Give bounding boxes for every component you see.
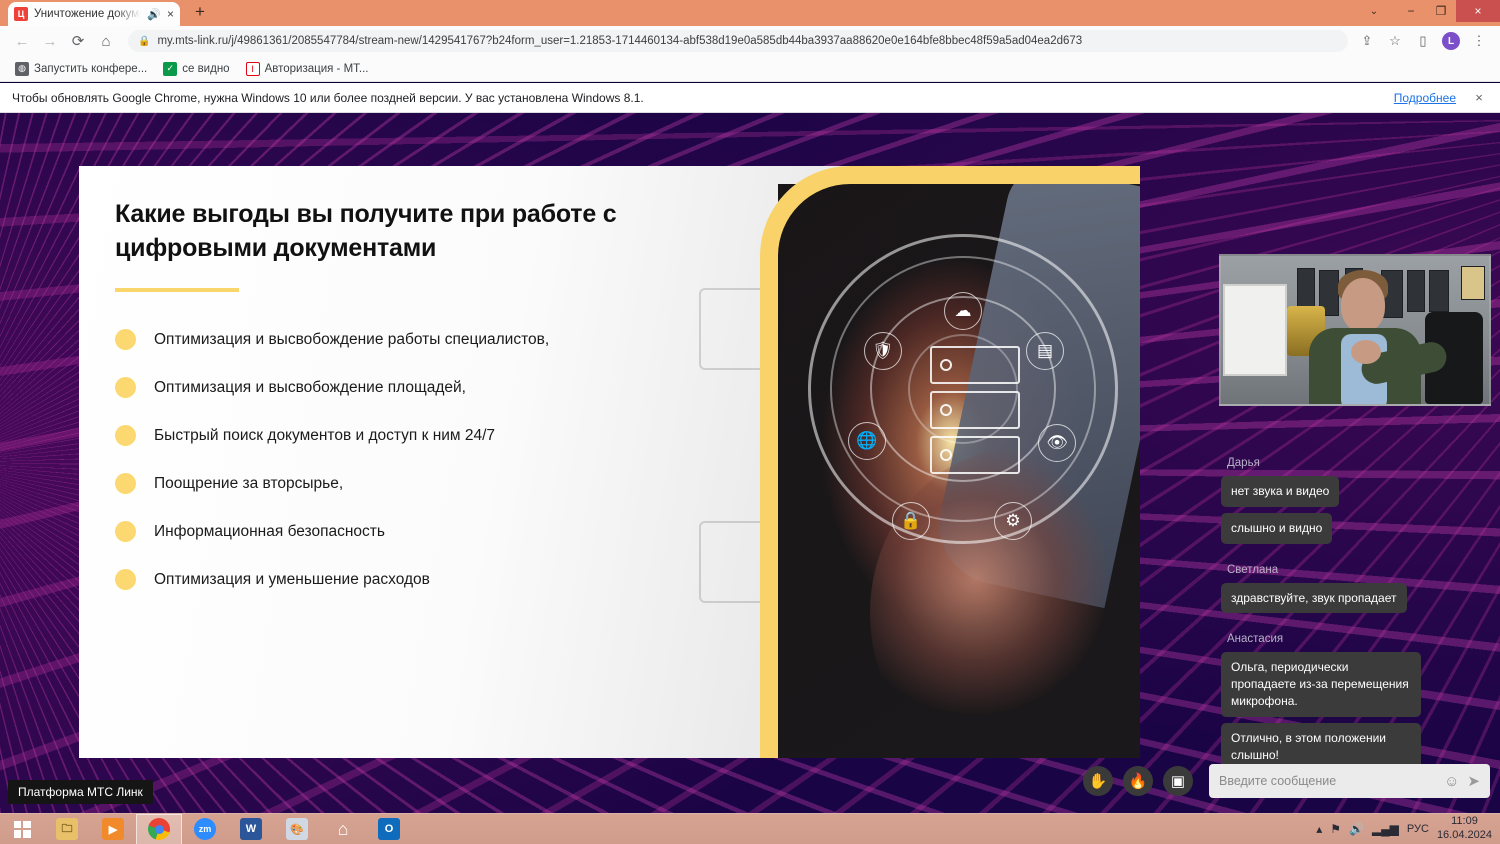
taskbar-item-media-player[interactable]: ▶	[90, 814, 136, 844]
bullet-dot-icon	[115, 425, 136, 446]
bookmark-item[interactable]: ✓ се видно	[156, 60, 236, 78]
chat-message: Ольга, периодически пропадаете из-за пер…	[1221, 652, 1421, 716]
lock-icon: 🔒	[138, 36, 150, 47]
bookmark-label: Авторизация - МТ...	[265, 63, 369, 75]
bookmarks-bar: ◍ Запустить конфере... ✓ се видно I Авто…	[0, 56, 1500, 82]
layout-button[interactable]: ▣	[1163, 766, 1193, 796]
chat-input-box[interactable]: Введите сообщение ☺ ➤	[1209, 764, 1490, 798]
show-hidden-icons-icon[interactable]: ▴	[1316, 822, 1322, 836]
window-close-button[interactable]: ×	[1456, 0, 1500, 22]
side-panel-icon[interactable]: ▯	[1410, 28, 1436, 54]
presenter-video-tile[interactable]	[1219, 254, 1491, 406]
windows-taskbar: 🗀 ▶ zm W 🎨 ⌂ O ▴ ⚑ 🔊 ▂▄▆ РУ	[0, 813, 1500, 844]
address-bar[interactable]: 🔒 my.mts-link.ru/j/49861361/2085547784/s…	[128, 30, 1348, 52]
slide-image: ☁ 🛡 🌐 ▤ 👁 🔒 ⚙	[760, 166, 1140, 758]
title-underline-rule	[115, 288, 239, 292]
paint-icon: 🎨	[286, 818, 308, 840]
slide-yellow-frame	[760, 166, 1140, 758]
taskbar-item-file-explorer[interactable]: 🗀	[44, 814, 90, 844]
wall-photo-frame	[1297, 268, 1315, 308]
bookmark-star-icon[interactable]: ☆	[1382, 28, 1408, 54]
tab-search-chevron-icon[interactable]: ⌄	[1352, 0, 1396, 22]
chat-panel: Дарья нет звука и видео слышно и видно С…	[1215, 443, 1500, 778]
toolbar-icons: ⇪ ☆ ▯ L ⋮	[1354, 28, 1492, 54]
taskbar-item-google-chrome[interactable]	[136, 814, 182, 844]
tab-favicon-icon: Ц	[14, 7, 28, 21]
share-icon[interactable]: ⇪	[1354, 28, 1380, 54]
chrome-icon	[148, 818, 170, 840]
taskbar-tooltip: Платформа МТС Линк	[8, 780, 153, 804]
slide-title: Какие выгоды вы получите при работе с ци…	[115, 198, 635, 266]
bullet-text: Оптимизация и высвобождение работы специ…	[154, 331, 549, 349]
system-tray: ▴ ⚑ 🔊 ▂▄▆ РУС 11:09 16.04.2024	[1316, 815, 1500, 843]
infobar-message: Чтобы обновлять Google Chrome, нужна Win…	[12, 91, 1394, 105]
reload-icon[interactable]: ⟳	[64, 27, 92, 55]
chrome-menu-icon[interactable]: ⋮	[1466, 28, 1492, 54]
bullet-dot-icon	[115, 521, 136, 542]
wall-photo-frame	[1407, 270, 1425, 312]
bullet-text: Быстрый поиск документов и доступ к ним …	[154, 427, 495, 445]
chrome-update-infobar: Чтобы обновлять Google Chrome, нужна Win…	[0, 83, 1500, 113]
bookmark-item[interactable]: ◍ Запустить конфере...	[8, 60, 154, 78]
language-indicator[interactable]: РУС	[1407, 823, 1429, 835]
bullet-text: Оптимизация и уменьшение расходов	[154, 571, 430, 589]
windows-logo-icon	[14, 821, 31, 838]
window-maximize-button[interactable]: ❐	[1426, 0, 1456, 22]
shield-icon: ✓	[163, 62, 177, 76]
window-controls: ⌄ − ❐ ×	[1352, 0, 1500, 22]
profile-avatar[interactable]: L	[1438, 28, 1464, 54]
file-explorer-icon: 🗀	[56, 818, 78, 840]
bullet-text: Оптимизация и высвобождение площадей,	[154, 379, 466, 397]
home-icon[interactable]: ⌂	[92, 27, 120, 55]
chat-input-placeholder[interactable]: Введите сообщение	[1219, 774, 1436, 788]
signal-strength-icon[interactable]: ▂▄▆	[1372, 822, 1399, 836]
tab-close-icon[interactable]: ×	[167, 8, 174, 20]
presentation-slide[interactable]: Какие выгоды вы получите при работе с ци…	[79, 166, 1140, 758]
send-icon[interactable]: ➤	[1467, 772, 1480, 790]
list-item: Оптимизация и высвобождение работы специ…	[115, 316, 779, 364]
bullet-dot-icon	[115, 329, 136, 350]
address-bar-url: my.mts-link.ru/j/49861361/2085547784/str…	[157, 35, 1082, 47]
presenter-hand	[1351, 340, 1381, 364]
reaction-fire-button[interactable]: 🔥	[1123, 766, 1153, 796]
webinar-bottom-bar: ✋ 🔥 ▣ Введите сообщение ☺ ➤	[0, 749, 1500, 813]
zoom-icon: zm	[194, 818, 216, 840]
raise-hand-button[interactable]: ✋	[1083, 766, 1113, 796]
clock[interactable]: 11:09 16.04.2024	[1437, 815, 1492, 843]
whiteboard-graphic	[1223, 284, 1287, 376]
emoji-icon[interactable]: ☺	[1444, 773, 1459, 790]
list-item: Быстрый поиск документов и доступ к ним …	[115, 412, 779, 460]
slide-bullet-list: Оптимизация и высвобождение работы специ…	[115, 316, 779, 604]
taskbar-item-paint[interactable]: 🎨	[274, 814, 320, 844]
bullet-dot-icon	[115, 473, 136, 494]
outlook-icon: O	[378, 818, 400, 840]
bullet-dot-icon	[115, 377, 136, 398]
list-item: Поощрение за вторсырье,	[115, 460, 779, 508]
clock-date: 16.04.2024	[1437, 829, 1492, 841]
network-flag-icon[interactable]: ⚑	[1330, 822, 1341, 836]
word-icon: W	[240, 818, 262, 840]
window-minimize-button[interactable]: −	[1396, 0, 1426, 22]
globe-icon: ◍	[15, 62, 29, 76]
bullet-dot-icon	[115, 569, 136, 590]
taskbar-item-home-app[interactable]: ⌂	[320, 814, 366, 844]
bullet-text: Информационная безопасность	[154, 523, 385, 541]
chat-message: здравствуйте, звук пропадает	[1221, 583, 1407, 614]
volume-icon[interactable]: 🔊	[1349, 822, 1364, 836]
windows-start-button[interactable]	[0, 814, 44, 844]
taskbar-item-outlook[interactable]: O	[366, 814, 412, 844]
bookmark-label: се видно	[182, 63, 229, 75]
browser-tabstrip: Ц Уничтожение документов п 🔊 × + ⌄ − ❐ ×	[0, 0, 1500, 26]
webinar-page: Какие выгоды вы получите при работе с ци…	[0, 113, 1500, 813]
bullet-text: Поощрение за вторсырье,	[154, 475, 343, 493]
list-item: Оптимизация и уменьшение расходов	[115, 556, 779, 604]
tab-audio-icon[interactable]: 🔊	[147, 8, 161, 21]
new-tab-button[interactable]: +	[190, 3, 210, 23]
chat-message: слышно и видно	[1221, 513, 1332, 544]
forward-icon[interactable]: →	[36, 27, 64, 55]
chat-author: Светлана	[1227, 564, 1494, 576]
slide-text-column: Какие выгоды вы получите при работе с ци…	[79, 166, 779, 758]
back-icon[interactable]: ←	[8, 27, 36, 55]
clock-time: 11:09	[1451, 815, 1478, 827]
home-icon: ⌂	[332, 818, 354, 840]
chat-author: Анастасия	[1227, 633, 1494, 645]
tab-title: Уничтожение документов п	[34, 8, 141, 20]
wall-photo-frame	[1461, 266, 1485, 300]
bookmark-item[interactable]: I Авторизация - МТ...	[239, 60, 376, 78]
screen: Ц Уничтожение документов п 🔊 × + ⌄ − ❐ ×…	[0, 0, 1500, 844]
wall-photo-frame	[1429, 270, 1449, 312]
presenter-face	[1341, 278, 1385, 332]
chat-author: Дарья	[1227, 457, 1494, 469]
list-item: Информационная безопасность	[115, 508, 779, 556]
browser-tab[interactable]: Ц Уничтожение документов п 🔊 ×	[8, 2, 180, 26]
mts-icon: I	[246, 62, 260, 76]
bookmark-label: Запустить конфере...	[34, 63, 147, 75]
avatar: L	[1442, 32, 1460, 50]
media-player-icon: ▶	[102, 818, 124, 840]
chat-message: нет звука и видео	[1221, 476, 1339, 507]
list-item: Оптимизация и высвобождение площадей,	[115, 364, 779, 412]
infobar-close-icon[interactable]: ×	[1470, 90, 1488, 105]
browser-toolbar: ← → ⟳ ⌂ 🔒 my.mts-link.ru/j/49861361/2085…	[0, 26, 1500, 56]
taskbar-item-microsoft-word[interactable]: W	[228, 814, 274, 844]
infobar-learn-more-link[interactable]: Подробнее	[1394, 91, 1456, 105]
taskbar-item-zoom[interactable]: zm	[182, 814, 228, 844]
